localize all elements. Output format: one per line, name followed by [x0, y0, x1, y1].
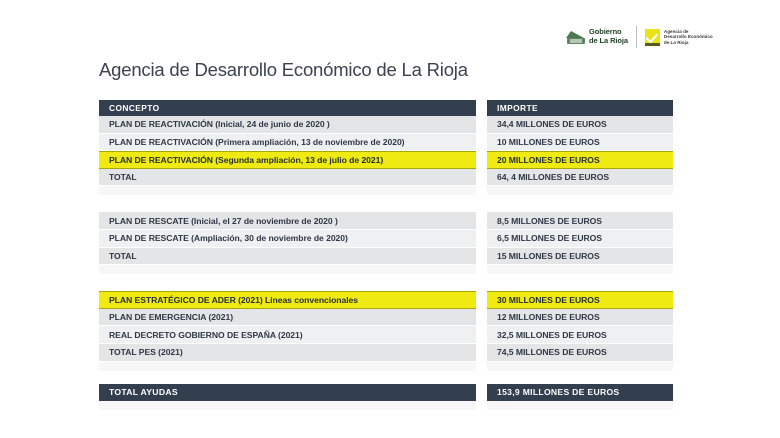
rioja-building-icon	[566, 30, 586, 44]
row-spacer	[487, 401, 673, 410]
total-ayudas-value: 153,9 MILLONES DE EUROS	[487, 384, 673, 401]
row-spacer	[99, 362, 476, 371]
logo-divider	[636, 26, 637, 48]
group-gap	[487, 195, 673, 212]
total-gap	[99, 371, 476, 384]
table-row: PLAN DE EMERGENCIA (2021)	[99, 309, 476, 327]
group-gap	[99, 274, 476, 291]
ader-logo: Agencia de Desarrollo Económico de La Ri…	[645, 29, 713, 46]
total-gap	[487, 371, 673, 384]
table-row-highlighted: PLAN DE REACTIVACIÓN (Segunda ampliación…	[99, 151, 476, 169]
table-row: 15 MILLONES DE EUROS	[487, 248, 673, 266]
check-square-icon	[645, 29, 660, 46]
table-row: 6,5 MILLONES DE EUROS	[487, 230, 673, 248]
concepto-column: CONCEPTO PLAN DE REACTIVACIÓN (Inicial, …	[99, 100, 476, 410]
table-row: 10 MILLONES DE EUROS	[487, 134, 673, 152]
concepto-column-header: CONCEPTO	[99, 100, 476, 116]
table-row-highlighted: 20 MILLONES DE EUROS	[487, 151, 673, 169]
group-gap	[487, 274, 673, 291]
table-row: TOTAL PES (2021)	[99, 344, 476, 362]
ader-logo-line3: de La Rioja	[664, 40, 689, 45]
table-row: 8,5 MILLONES DE EUROS	[487, 212, 673, 230]
group-gap	[99, 195, 476, 212]
ader-logo-line1: Agencia de	[664, 29, 689, 34]
table-row-highlighted: PLAN ESTRATÉGICO DE ADER (2021) Lineas c…	[99, 291, 476, 309]
table-row: PLAN DE RESCATE (Ampliación, 30 de novie…	[99, 230, 476, 248]
row-spacer	[99, 265, 476, 274]
table-row: TOTAL	[99, 248, 476, 266]
table-row: 12 MILLONES DE EUROS	[487, 309, 673, 327]
row-spacer	[487, 186, 673, 195]
table-row: TOTAL	[99, 169, 476, 187]
table-row: 32,5 MILLONES DE EUROS	[487, 326, 673, 344]
gobierno-logo-line2: de La Rioja	[589, 36, 628, 45]
row-spacer	[487, 362, 673, 371]
table-row: PLAN DE RESCATE (Inicial, el 27 de novie…	[99, 212, 476, 230]
page-title: Agencia de Desarrollo Económico de La Ri…	[99, 59, 468, 81]
importe-column: IMPORTE 34,4 MILLONES DE EUROS 10 MILLON…	[487, 100, 673, 410]
logo-bar: Gobierno de La Rioja Agencia de Desarrol…	[566, 22, 713, 52]
table-row: 64, 4 MILLONES DE EUROS	[487, 169, 673, 187]
importe-column-header: IMPORTE	[487, 100, 673, 116]
total-ayudas-label: TOTAL AYUDAS	[99, 384, 476, 401]
table-row-highlighted: 30 MILLONES DE EUROS	[487, 291, 673, 309]
row-spacer	[99, 401, 476, 410]
ader-logo-line2: Desarrollo Económico	[664, 34, 713, 39]
table-row: PLAN DE REACTIVACIÓN (Inicial, 24 de jun…	[99, 116, 476, 134]
gobierno-de-la-rioja-logo: Gobierno de La Rioja	[566, 28, 628, 45]
table-row: PLAN DE REACTIVACIÓN (Primera ampliación…	[99, 134, 476, 152]
ayudas-table: CONCEPTO PLAN DE REACTIVACIÓN (Inicial, …	[99, 100, 673, 410]
row-spacer	[99, 186, 476, 195]
ader-logo-text: Agencia de Desarrollo Económico de La Ri…	[664, 29, 713, 45]
gobierno-logo-text: Gobierno de La Rioja	[589, 28, 628, 45]
table-row: REAL DECRETO GOBIERNO DE ESPAÑA (2021)	[99, 326, 476, 344]
row-spacer	[487, 265, 673, 274]
table-row: 34,4 MILLONES DE EUROS	[487, 116, 673, 134]
table-row: 74,5 MILLONES DE EUROS	[487, 344, 673, 362]
